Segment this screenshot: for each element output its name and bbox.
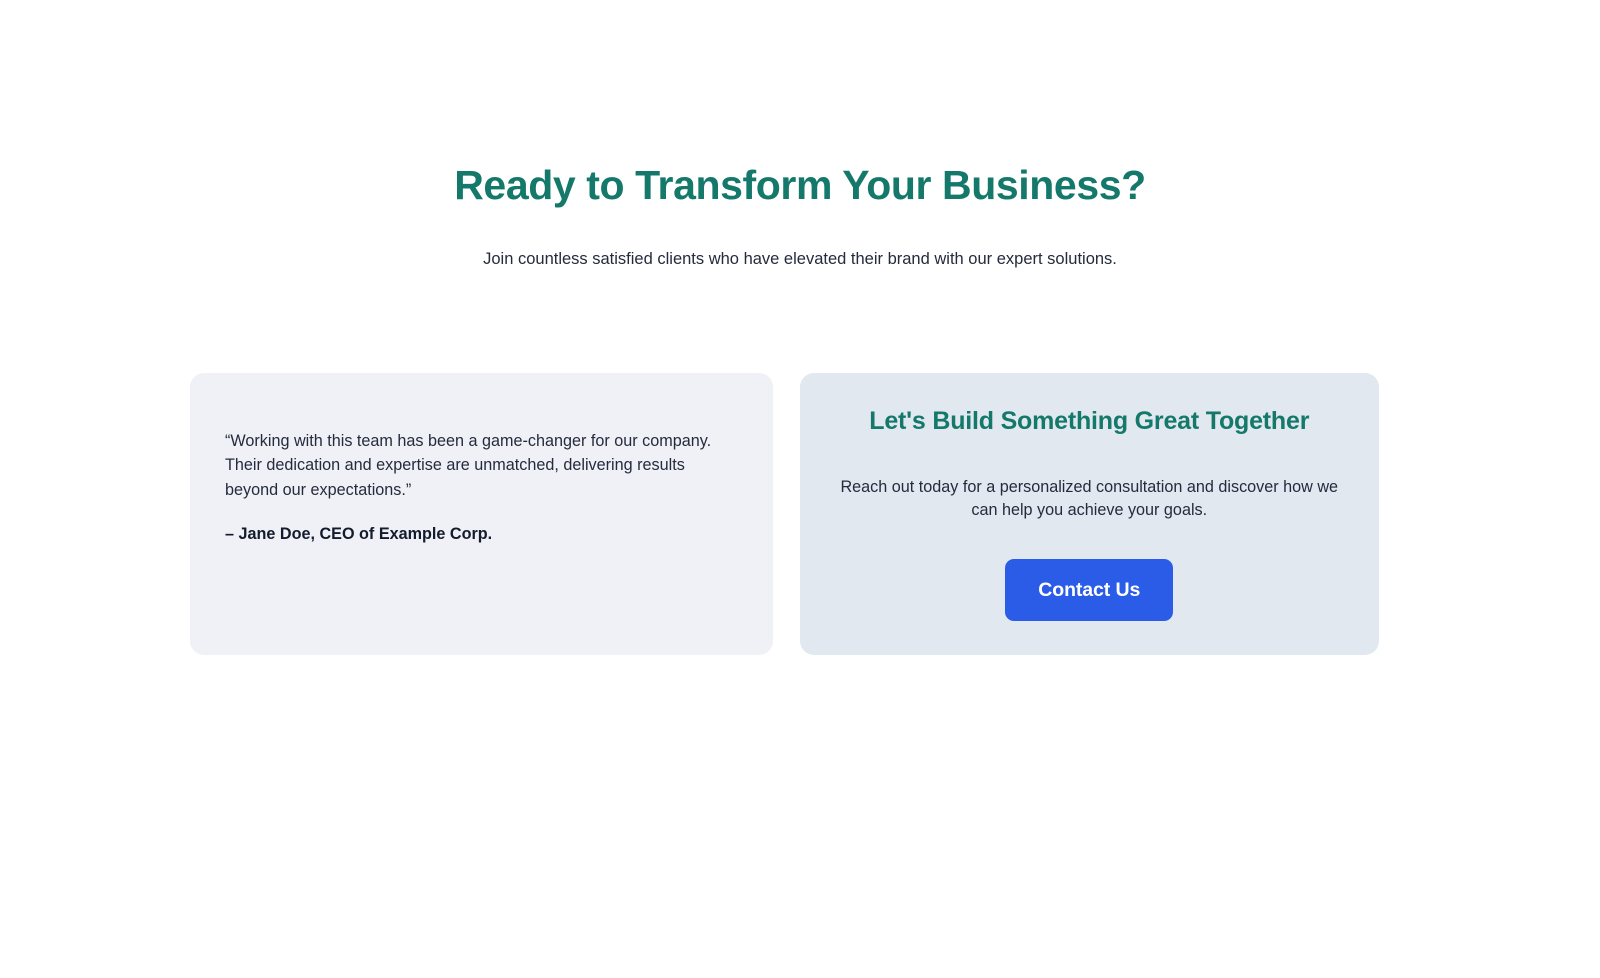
testimonial-attribution: – Jane Doe, CEO of Example Corp. [225, 523, 725, 546]
contact-cta-card: Let's Build Something Great Together Rea… [800, 373, 1380, 655]
cta-description: Reach out today for a personalized consu… [840, 476, 1340, 522]
testimonial-quote: “Working with this team has been a game-… [225, 429, 715, 502]
cta-title: Let's Build Something Great Together [840, 406, 1340, 436]
cta-button-container: Contact Us [840, 559, 1340, 621]
hero-subtitle: Join countless satisfied clients who hav… [0, 247, 1600, 272]
cta-page: Ready to Transform Your Business? Join c… [0, 0, 1600, 978]
contact-us-button[interactable]: Contact Us [1005, 559, 1173, 621]
hero-section: Ready to Transform Your Business? Join c… [0, 0, 1600, 272]
page-title: Ready to Transform Your Business? [0, 162, 1600, 209]
testimonial-card: “Working with this team has been a game-… [190, 373, 773, 655]
cards-row: “Working with this team has been a game-… [190, 373, 1379, 655]
